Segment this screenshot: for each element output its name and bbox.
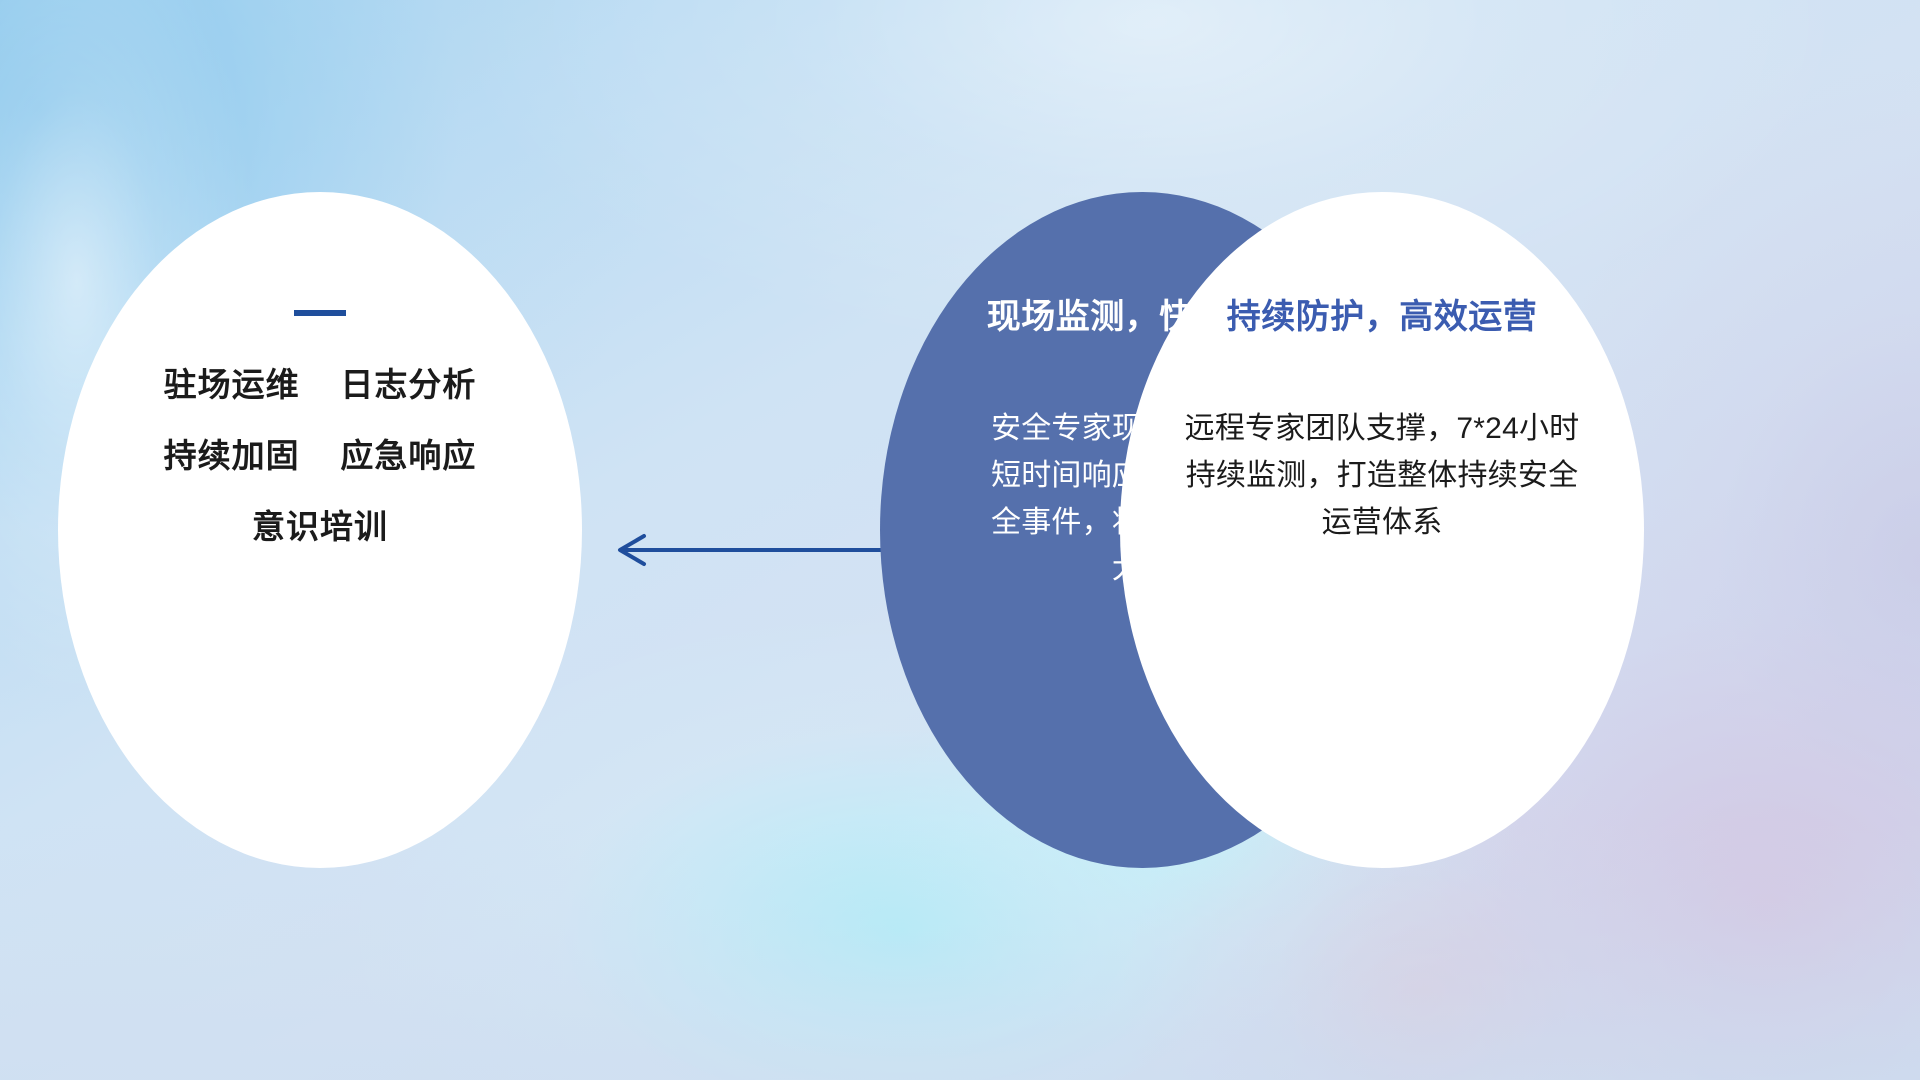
capability-line-3: 意识培训 [252,510,388,543]
capability-line-1: 驻场运维 日志分析 [164,368,477,401]
feature-title-continuous-protection: 持续防护，高效运营 [1227,300,1538,334]
feature-body-continuous-protection: 远程专家团队支撑，7*24小时持续监测，打造整体持续安全运营体系 [1185,406,1580,546]
divider-dash-icon [294,310,346,316]
left-arrow-connector [600,520,900,580]
slide-canvas: 驻场运维 日志分析 持续加固 应急响应 意识培训 现场监测，快速响应 安全专家现… [0,0,1920,1080]
feature-circle-continuous-protection[interactable]: 持续防护，高效运营 远程专家团队支撑，7*24小时持续监测，打造整体持续安全运营… [1120,192,1644,868]
capability-circle-left[interactable]: 驻场运维 日志分析 持续加固 应急响应 意识培训 [58,192,582,868]
capability-line-2: 持续加固 应急响应 [164,439,477,472]
